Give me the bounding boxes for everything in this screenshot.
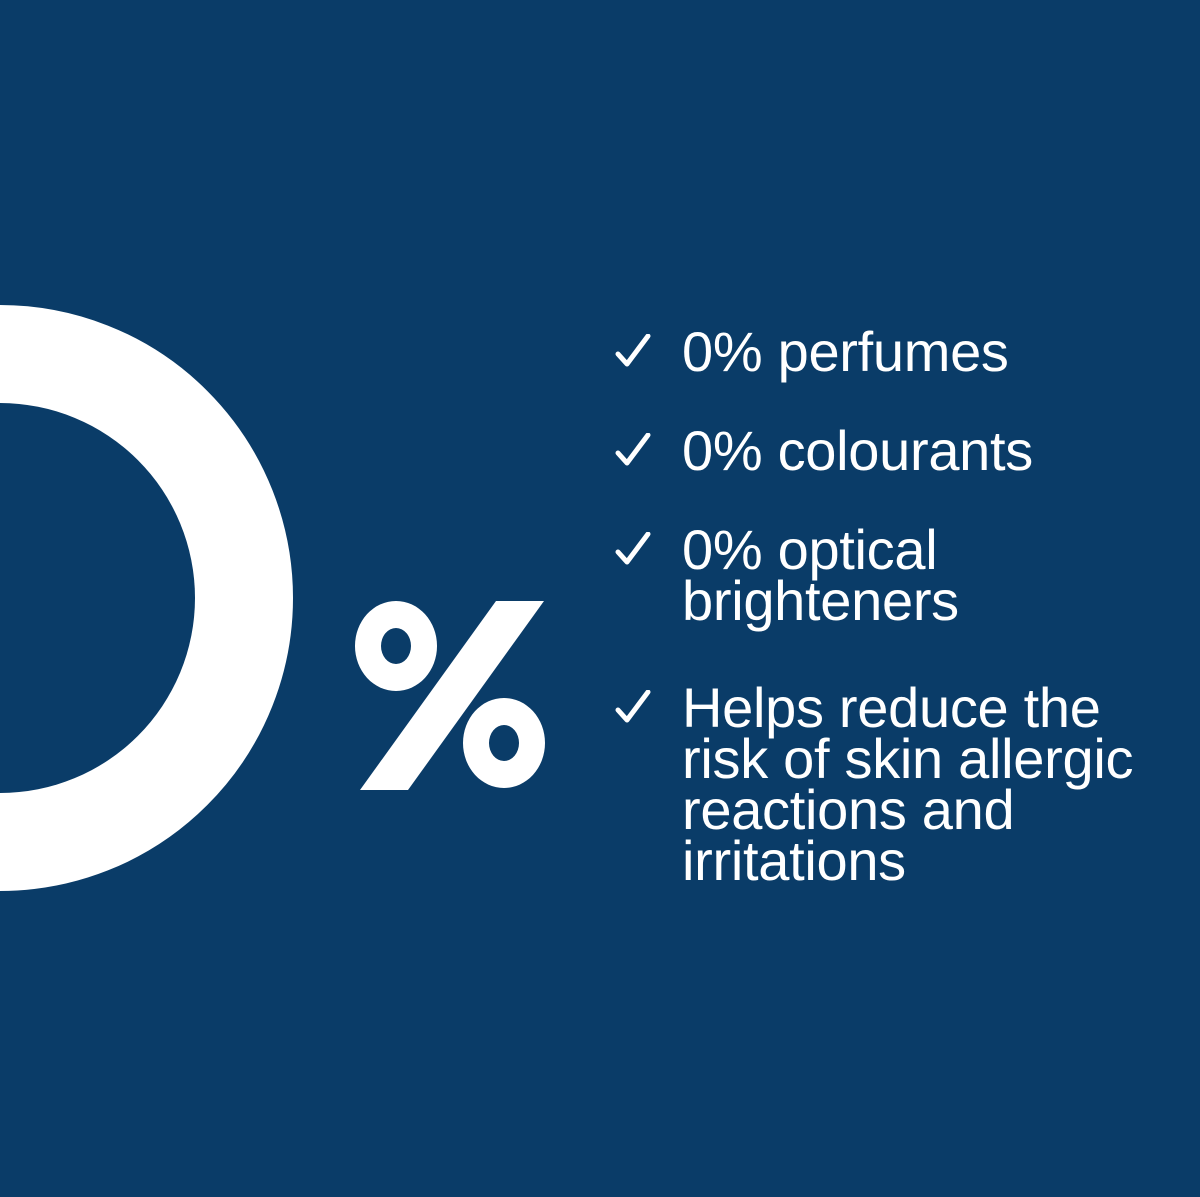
claims-list: 0% perfumes 0% colourants 0% optical bri… bbox=[612, 322, 1152, 886]
check-icon bbox=[612, 520, 654, 572]
claim-label: 0% optical brighteners bbox=[682, 520, 1152, 626]
list-item: 0% perfumes bbox=[612, 322, 1152, 377]
list-item: 0% optical brighteners bbox=[612, 520, 1152, 626]
percent-upper-ring bbox=[355, 601, 437, 691]
promise-panel: 0% perfumes 0% colourants 0% optical bri… bbox=[0, 0, 1200, 1197]
list-item: Helps reduce the risk of skin allergic r… bbox=[612, 678, 1152, 886]
check-icon bbox=[612, 421, 654, 473]
list-item: 0% colourants bbox=[612, 421, 1152, 476]
percent-symbol-graphic bbox=[352, 598, 552, 793]
zero-numeral-graphic bbox=[0, 305, 293, 891]
percent-lower-ring bbox=[463, 698, 545, 788]
claim-label: 0% colourants bbox=[682, 421, 1152, 476]
claim-label: 0% perfumes bbox=[682, 322, 1152, 377]
check-icon bbox=[612, 678, 654, 730]
claim-label: Helps reduce the risk of skin allergic r… bbox=[682, 678, 1152, 886]
check-icon bbox=[612, 322, 654, 374]
